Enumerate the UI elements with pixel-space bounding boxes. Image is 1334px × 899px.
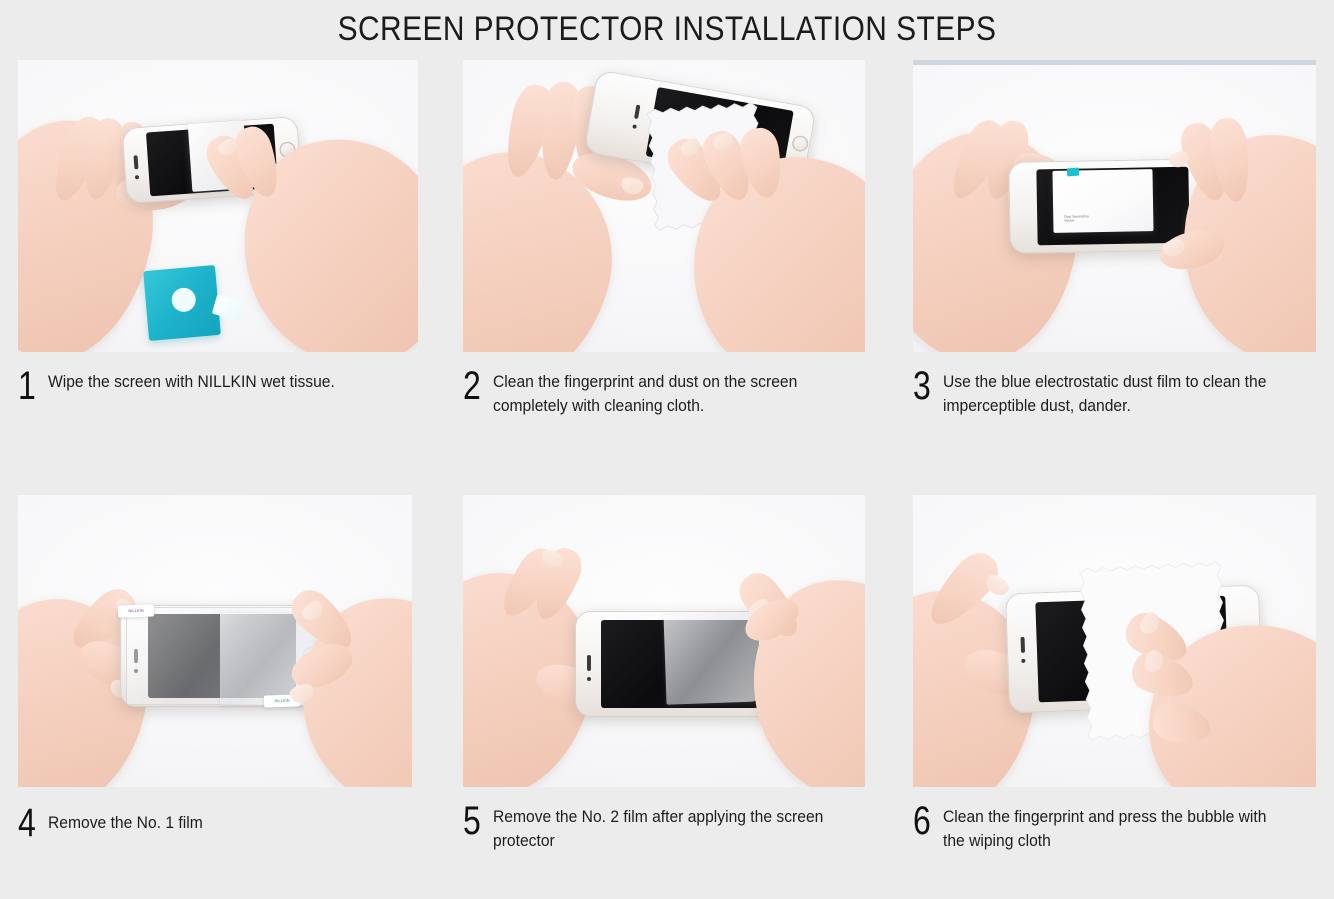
step-caption-3: 3 Use the blue electrostatic dust film t… [913,366,1313,418]
step-text: Wipe the screen with NILLKIN wet tissue. [48,366,379,394]
phone-camera [587,677,591,681]
step-text: Clean the fingerprint and press the bubb… [943,801,1283,853]
sachet-logo [171,287,197,313]
tab-no-1[interactable]: NILLKIN [118,604,154,617]
step-card-3: Dust Separating Sticker 3 Use the blue e… [913,60,1316,352]
step-caption-5: 5 Remove the No. 2 film after applying t… [463,801,855,853]
step-number: 6 [913,801,937,841]
phone-camera [1021,659,1025,663]
step-number: 3 [913,366,937,406]
sticker-label-line-2: Sticker [1064,218,1075,223]
step-caption-4: 4 Remove the No. 1 film [18,803,404,843]
blue-pull-tab [1067,168,1080,177]
step-card-1: 1 Wipe the screen with NILLKIN wet tissu… [18,60,418,352]
step-photo-1 [18,60,418,352]
step-number: 2 [463,366,487,406]
step-text: Clean the fingerprint and dust on the sc… [493,366,826,418]
step-number: 5 [463,801,487,841]
phone-home-button [791,134,810,153]
step-caption-1: 1 Wipe the screen with NILLKIN wet tissu… [18,366,408,406]
step-photo-3: Dust Separating Sticker [913,60,1316,352]
step-caption-6: 6 Clean the fingerprint and press the bu… [913,801,1313,853]
phone-speaker [1021,637,1026,653]
step-photo-4: NILLKIN NILLKIN [18,495,412,787]
step-text: Remove the No. 1 film [48,811,376,835]
phone-speaker [634,105,640,119]
step-number: 1 [18,366,42,406]
infographic-page: SCREEN PROTECTOR INSTALLATION STEPS [0,0,1334,899]
phone-speaker [587,655,591,671]
teal-sachet [143,265,221,341]
step-photo-5 [463,495,865,787]
step-photo-2 [463,60,865,352]
step-caption-2: 2 Clean the fingerprint and dust on the … [463,366,855,418]
dust-sticker-card: Dust Separating Sticker [1052,169,1153,233]
step-text: Remove the No. 2 film after applying the… [493,801,826,853]
phone-speaker [133,155,138,169]
step-card-5: 5 Remove the No. 2 film after applying t… [463,495,865,787]
phone-camera [135,175,139,179]
step-photo-6 [913,495,1316,787]
step-card-4: NILLKIN NILLKIN 4 Remove the No. 1 film [18,495,412,787]
step-card-2: 2 Clean the fingerprint and dust on the … [463,60,865,352]
steps-grid: 1 Wipe the screen with NILLKIN wet tissu… [0,0,1334,899]
step-number: 4 [18,803,42,843]
step-text: Use the blue electrostatic dust film to … [943,366,1283,418]
phone-camera [632,124,637,129]
step-card-6: 6 Clean the fingerprint and press the bu… [913,495,1316,787]
